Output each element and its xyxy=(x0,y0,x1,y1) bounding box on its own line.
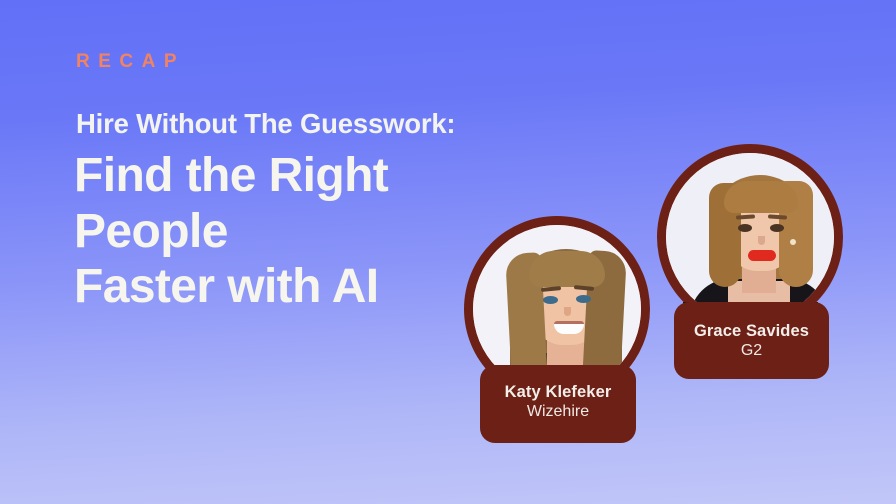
speaker-nameplate: Katy Klefeker Wizehire xyxy=(480,365,636,443)
headline-line-1: Find the Right xyxy=(74,148,388,204)
speaker-card-grace-savides: Grace Savides G2 xyxy=(657,144,843,379)
headline-line-3: Faster with AI xyxy=(74,259,388,315)
speaker-card-katy-klefeker: Katy Klefeker Wizehire xyxy=(464,216,650,446)
speaker-nameplate: Grace Savides G2 xyxy=(674,302,829,379)
grace-savides-portrait xyxy=(666,153,834,321)
webinar-recap-banner: RECAP Hire Without The Guesswork: Find t… xyxy=(0,0,896,504)
subheadline: Hire Without The Guesswork: xyxy=(76,109,455,139)
headline-line-2: People xyxy=(74,204,388,260)
avatar xyxy=(666,153,834,321)
eyebrow-label: RECAP xyxy=(76,52,185,71)
speaker-name: Katy Klefeker xyxy=(505,383,612,402)
speaker-name: Grace Savides xyxy=(694,322,809,341)
speaker-organization: G2 xyxy=(741,341,762,361)
page-title: Find the Right People Faster with AI xyxy=(74,148,388,315)
speaker-organization: Wizehire xyxy=(527,402,589,422)
